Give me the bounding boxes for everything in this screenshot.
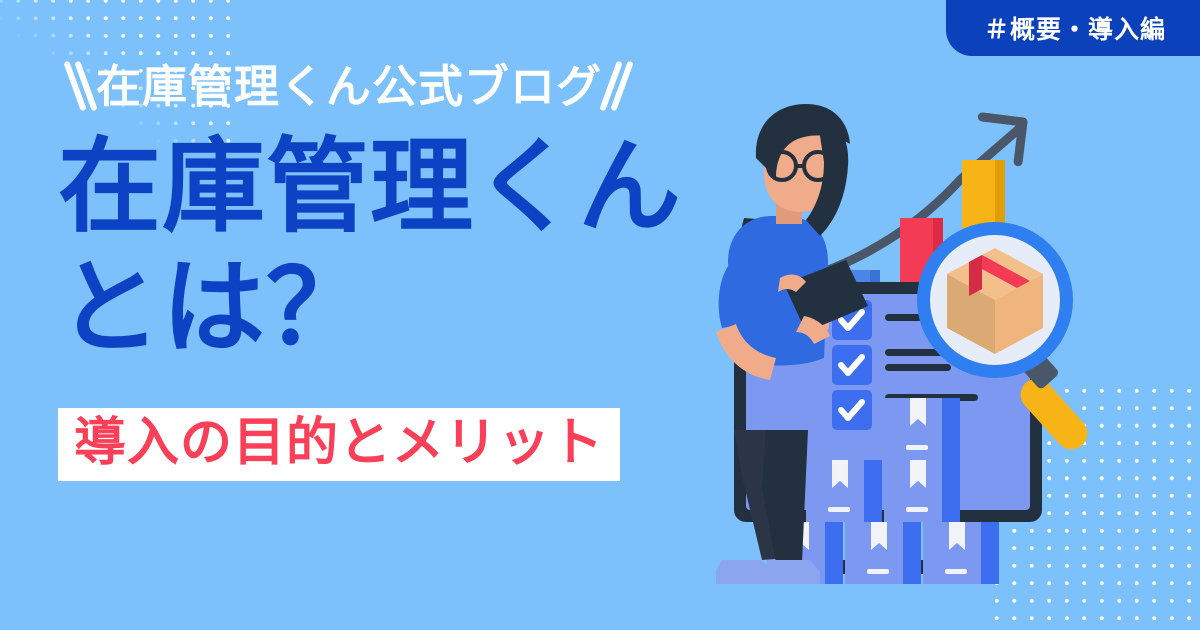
shoe-front xyxy=(764,560,820,584)
shoe-back xyxy=(716,560,772,584)
subtitle-ribbon-label: 導入の目的とメリット xyxy=(74,413,604,473)
page-title: 在庫管理くん とは？ xyxy=(58,132,798,364)
category-tag-badge: ＃概要・導入編 xyxy=(946,0,1200,56)
box xyxy=(884,398,960,460)
left-slash-icon xyxy=(70,58,92,114)
right-slash-icon xyxy=(606,58,628,114)
inventory-management-illustration xyxy=(720,100,1190,600)
box xyxy=(884,460,960,522)
box xyxy=(806,460,882,522)
box xyxy=(845,522,921,584)
page-title-line-1: 在庫管理くん xyxy=(58,132,798,243)
text-block: 在庫管理くん公式ブログ 在庫管理くん とは？ 導入の目的とメリット xyxy=(58,58,798,481)
thumbnail-canvas: ＃概要・導入編 在庫管理くん公式ブログ 在庫管理くん とは？ 導入の目的とメリッ… xyxy=(0,0,1200,630)
subtitle-ribbon: 導入の目的とメリット xyxy=(58,408,620,481)
blog-kicker: 在庫管理くん公式ブログ xyxy=(70,58,798,114)
category-tag-label: ＃概要・導入編 xyxy=(984,10,1166,46)
page-title-line-2: とは？ xyxy=(58,253,798,364)
blog-kicker-label: 在庫管理くん公式ブログ xyxy=(96,64,602,109)
box xyxy=(923,522,999,584)
